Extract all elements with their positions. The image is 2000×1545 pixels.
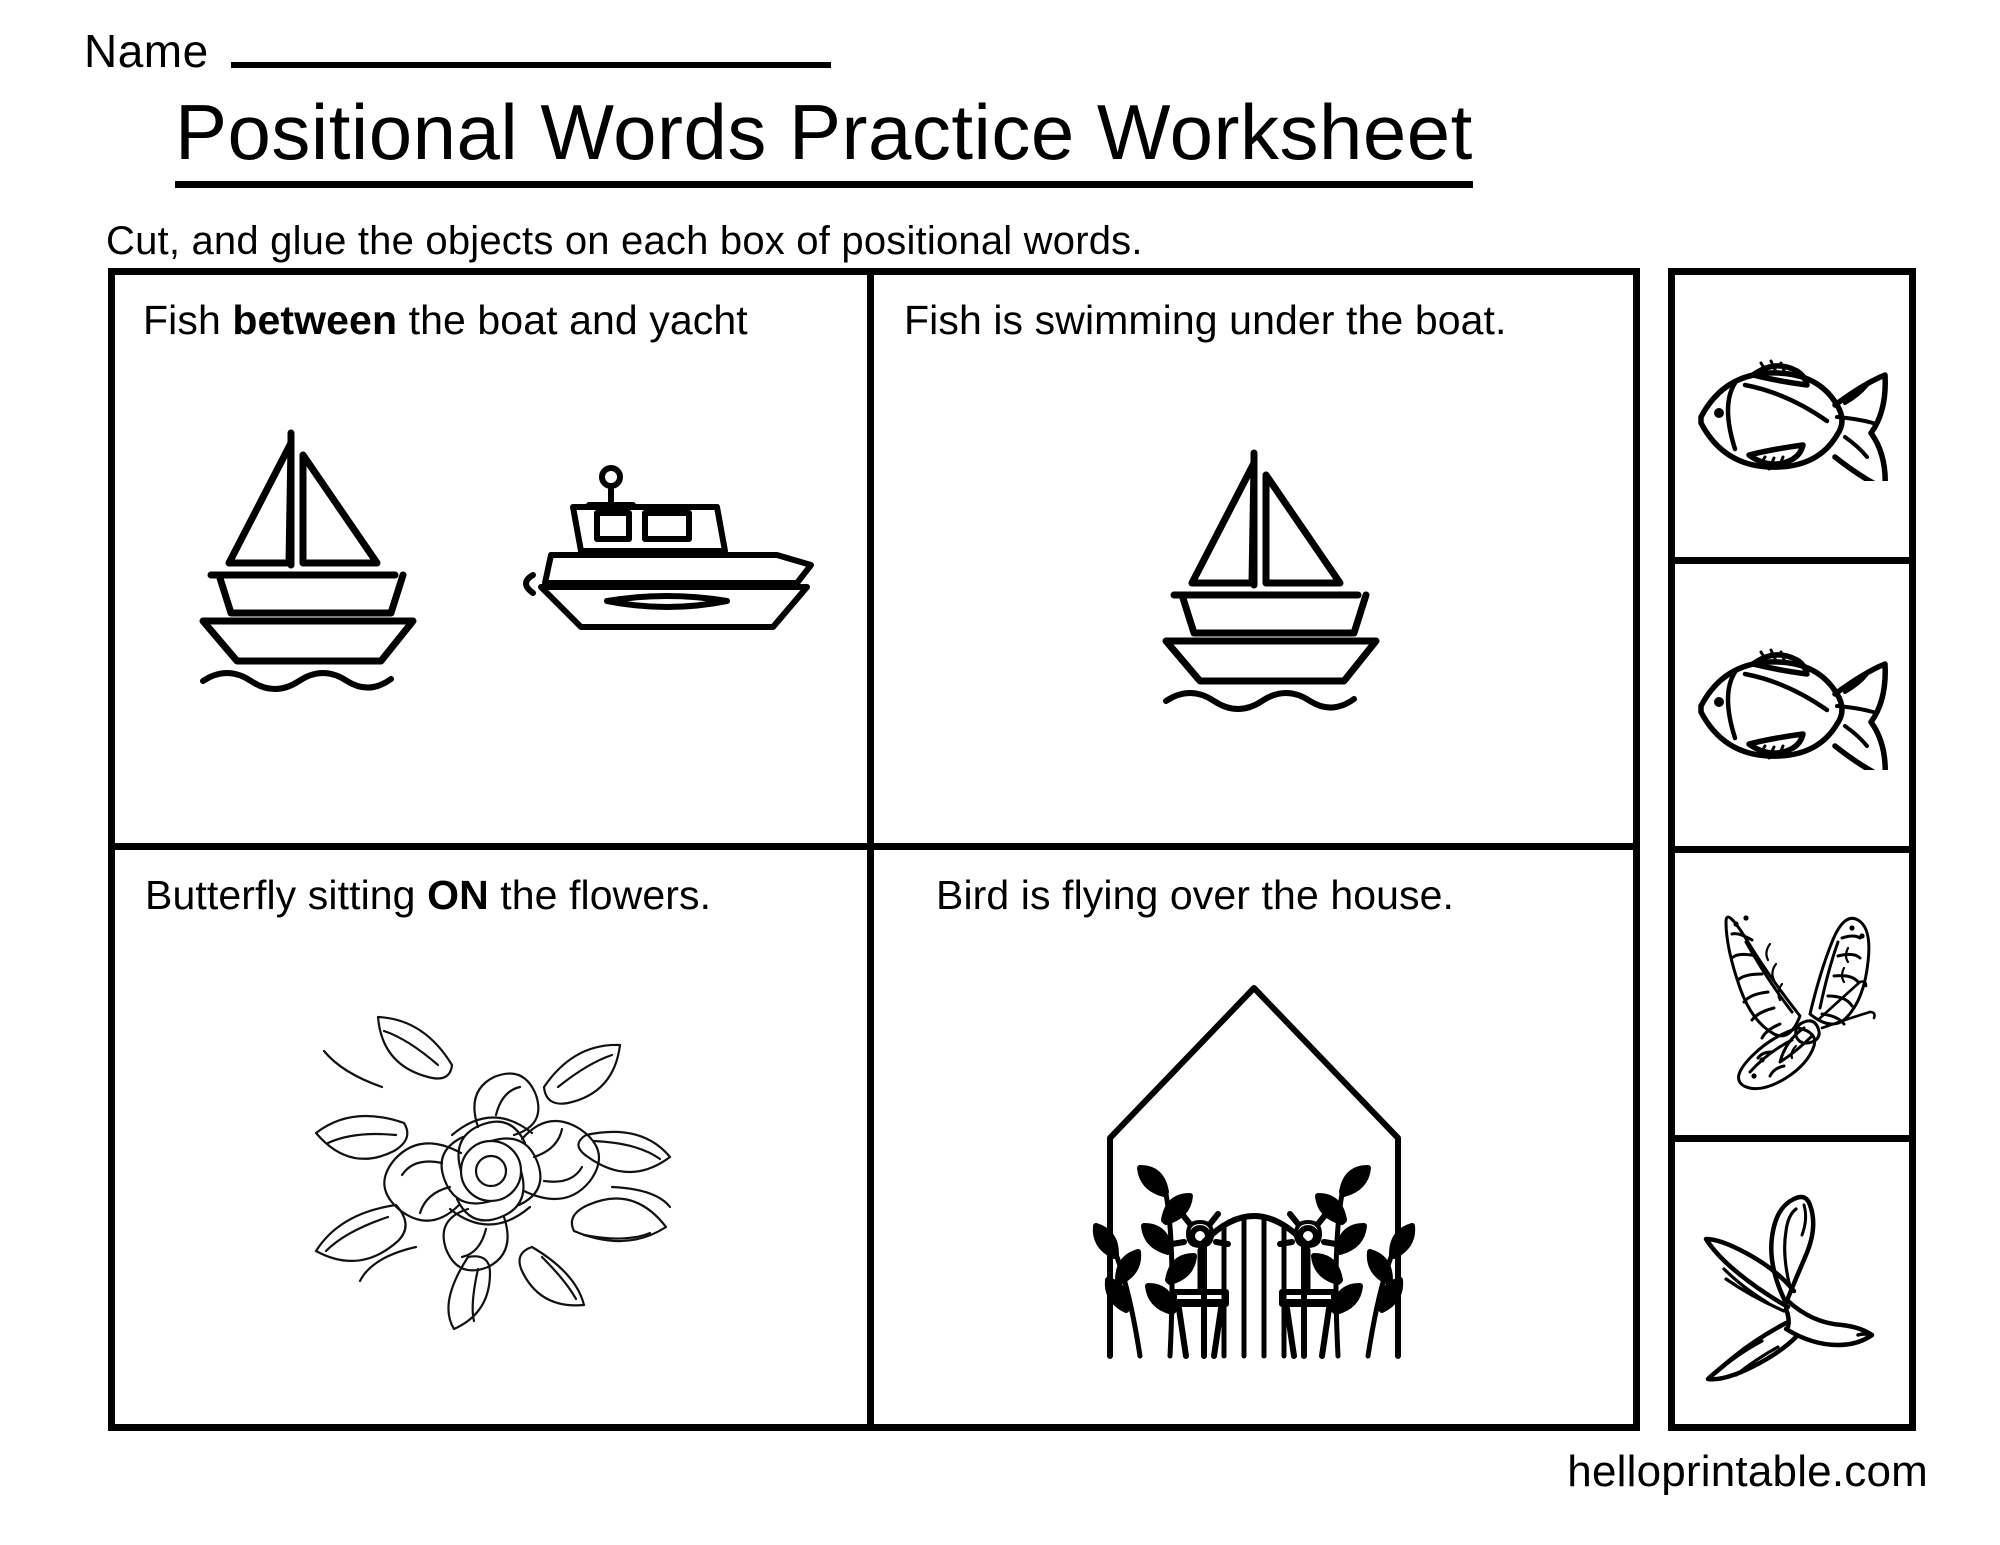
site-footer: helloprintable.com [1567,1446,1928,1498]
cell-under-artwork [874,425,1633,725]
instructions-text: Cut, and glue the objects on each box of… [106,218,1143,264]
cell-between-artwork [115,395,867,715]
cell-under-prompt: Fish is swimming under the boat. [892,289,1615,351]
cutout-fish-2[interactable] [1675,557,1909,846]
fish-icon [1687,640,1897,770]
cutout-strip [1668,268,1916,1431]
cell-over-prompt: Bird is flying over the house. [892,864,1615,926]
grid-cell-over[interactable]: Bird is flying over the house. [874,850,1633,1425]
fish-icon [1687,351,1897,481]
positional-words-grid: Fish between the boat and yacht [108,268,1640,1431]
flowers-icon [256,995,726,1335]
house-icon [1044,970,1464,1370]
cell-over-artwork [874,960,1633,1380]
page-title-text: Positional Words Practice Worksheet [175,86,1473,188]
grid-cell-under[interactable]: Fish is swimming under the boat. [874,275,1633,850]
butterfly-icon [1692,894,1892,1094]
cell-on-text-after: the flowers. [489,872,711,918]
grid-cell-between[interactable]: Fish between the boat and yacht [115,275,874,850]
page-title: Positional Words Practice Worksheet [175,86,1915,188]
cutout-butterfly[interactable] [1675,846,1909,1135]
bird-icon [1692,1183,1892,1383]
name-row: Name [84,26,831,76]
worksheet-page: Name Positional Words Practice Worksheet… [0,0,2000,1545]
cell-between-keyword: between [232,297,397,343]
sailboat-icon [141,415,441,695]
cell-between-text-before: Fish [143,297,232,343]
cell-on-artwork [115,980,867,1350]
cell-on-keyword: ON [427,872,489,918]
sailboat-icon [1104,435,1404,715]
cutout-fish-1[interactable] [1675,275,1909,557]
cell-between-text-after: the boat and yacht [397,297,748,343]
cell-between-prompt: Fish between the boat and yacht [133,289,849,351]
cell-on-prompt: Butterfly sitting ON the flowers. [133,864,849,926]
name-label: Name [84,26,209,76]
yacht-icon [511,455,841,655]
cutout-bird[interactable] [1675,1135,1909,1424]
name-blank-line[interactable] [231,61,831,68]
cell-on-text-before: Butterfly sitting [145,872,427,918]
grid-cell-on[interactable]: Butterfly sitting ON the flowers. [115,850,874,1425]
